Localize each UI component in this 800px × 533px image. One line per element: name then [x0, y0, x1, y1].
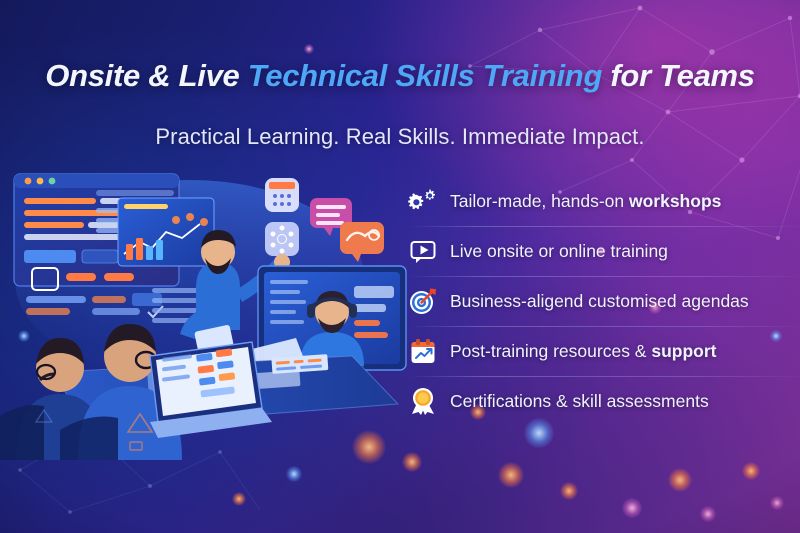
feature-item-live-training: Live onsite or online training: [408, 226, 800, 276]
analytics-chart-screen-illustration: [118, 198, 214, 266]
feature-list: Tailor-made, hands-on workshops Live ons…: [408, 176, 800, 426]
feature-label: Tailor-made, hands-on workshops: [450, 191, 721, 212]
headline-part-1: Onsite & Live: [45, 58, 248, 93]
feature-label: Live onsite or online training: [450, 241, 668, 262]
feature-item-certifications: Certifications & skill assessments: [408, 376, 800, 426]
video-play-icon: [408, 236, 438, 266]
feature-label: Post-training resources & support: [450, 341, 716, 362]
target-dart-icon: [408, 286, 438, 316]
clipboard-chart-icon: [408, 336, 438, 366]
award-ribbon-icon: [408, 386, 438, 416]
page-title: Onsite & Live Technical Skills Training …: [0, 58, 800, 94]
page-subtitle: Practical Learning. Real Skills. Immedia…: [0, 124, 800, 150]
feature-item-post-training-support: Post-training resources & support: [408, 326, 800, 376]
training-banner: Onsite & Live Technical Skills Training …: [0, 0, 800, 533]
feature-item-workshops: Tailor-made, hands-on workshops: [408, 176, 800, 226]
feature-label: Business-aligend customised agendas: [450, 291, 749, 312]
laptop-illustration: [150, 342, 272, 438]
headline-highlight: Technical Skills Training: [248, 58, 602, 93]
gears-icon: [408, 186, 438, 216]
feature-label: Certifications & skill assessments: [450, 391, 709, 412]
training-workspace-illustration: [0, 160, 410, 460]
headline-part-2: for Teams: [602, 58, 755, 93]
feature-item-customised-agendas: Business-aligend customised agendas: [408, 276, 800, 326]
